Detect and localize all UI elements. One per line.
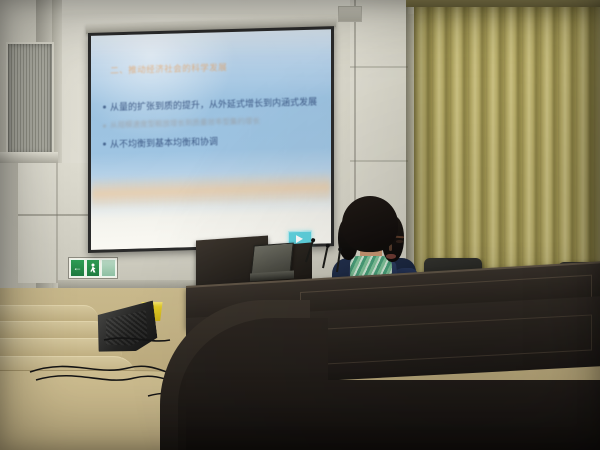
wall-pillar: [0, 163, 18, 303]
slide-bullet-text: 从规模速度型粗放增长到质量效率型集约增长: [110, 117, 260, 131]
desk-base: [186, 380, 600, 450]
speaker-hair: [342, 196, 398, 252]
slide-bullet-text: 从不均衡到基本均衡和协调: [110, 135, 218, 150]
wall-ledge: [0, 152, 58, 163]
wall-joint-vertical: [56, 163, 58, 283]
eye-right: [396, 240, 403, 243]
emergency-exit-sign: ←: [68, 257, 118, 279]
wall-vent: [338, 6, 362, 22]
exit-arrow-icon: ←: [70, 259, 85, 277]
bullet-dot-icon: [103, 125, 106, 128]
exit-arrow-glyph: ←: [73, 264, 82, 273]
list-item: 从不均衡到基本均衡和协调: [103, 132, 324, 150]
mouth: [386, 254, 396, 259]
projection-screen-frame: 二、推动经济社会的科学发展 从量的扩张到质的提升，从外延式增长到内涵式发展 从规…: [88, 26, 334, 253]
exit-running-man-icon: [86, 259, 101, 277]
projection-screen: 二、推动经济社会的科学发展 从量的扩张到质的提升，从外延式增长到内涵式发展 从规…: [91, 29, 331, 250]
curtain-rail: [406, 0, 600, 7]
exit-sign-secondary-icon: [101, 259, 116, 277]
photo-scene: ← 二、推动经济社会的科学发展 从量的扩张到质的提升，从外延式增长到内涵式发展 …: [0, 0, 600, 450]
wall-seam-horizontal-upper: [350, 66, 408, 68]
wall-air-grille-icon: [6, 42, 54, 156]
list-item: 从规模速度型粗放增长到质量效率型集约增长: [103, 115, 324, 131]
bullet-dot-icon: [103, 106, 106, 109]
wall-seam-horizontal-lower: [350, 160, 408, 162]
stage-curtain: [414, 0, 600, 300]
bullet-dot-icon: [103, 142, 106, 145]
slide-bullet-list: 从量的扩张到质的提升，从外延式增长到内涵式发展 从规模速度型粗放增长到质量效率型…: [103, 96, 324, 158]
